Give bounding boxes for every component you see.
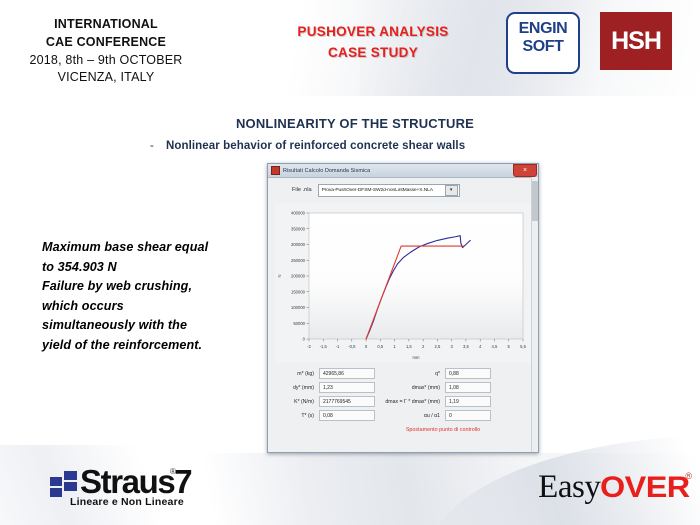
presentation-title: PUSHOVER ANALYSIS CASE STUDY	[258, 22, 488, 64]
svg-text:-1,5: -1,5	[320, 344, 328, 349]
result-field-left-0[interactable]: 42965,86	[319, 368, 375, 379]
svg-text:4,5: 4,5	[492, 344, 498, 349]
control-point-note: Spostamento punto di controllo	[274, 427, 532, 433]
results-panel: m* (kg)42965,86q*0,88dy* (mm)1,23dmax* (…	[268, 363, 538, 433]
bullet-dash-icon: -	[150, 140, 154, 152]
svg-text:350000: 350000	[291, 226, 306, 231]
enginsoft-logo-line-1: ENGIN	[508, 20, 578, 38]
result-label-left-3: T* (s)	[274, 413, 314, 419]
conference-line-1: INTERNATIONAL	[8, 16, 204, 34]
annotation-line-6: yield of the reinforcement.	[42, 336, 267, 356]
scrollbar-thumb[interactable]	[532, 181, 538, 221]
pushover-chart: -2-1,5-1-0,500,511,522,533,544,555,5mm05…	[275, 203, 531, 363]
enginsoft-logo: ENGIN SOFT	[506, 12, 580, 74]
application-icon	[271, 166, 280, 175]
slide-root: INTERNATIONAL CAE CONFERENCE 2018, 8th –…	[0, 0, 700, 525]
result-field-left-2[interactable]: 2177769545	[319, 396, 375, 407]
result-label-left-1: dy* (mm)	[274, 385, 314, 391]
svg-text:N: N	[277, 274, 282, 277]
presentation-title-line-1: PUSHOVER ANALYSIS	[258, 22, 488, 43]
result-label-right-3: αu / α1	[380, 413, 440, 419]
result-label-right-0: q*	[380, 371, 440, 377]
result-label-left-2: K* (N/m)	[274, 399, 314, 405]
svg-text:-2: -2	[307, 344, 311, 349]
window-scrollbar[interactable]	[531, 177, 538, 452]
straus7-blocks-icon	[50, 471, 80, 497]
svg-text:-1: -1	[336, 344, 340, 349]
result-label-right-2: dmax = Γ * dmax* (mm)	[380, 399, 440, 405]
result-field-right-1[interactable]: 1,08	[445, 382, 491, 393]
result-label-right-1: dmax* (mm)	[380, 385, 440, 391]
result-label-left-0: m* (kg)	[274, 371, 314, 377]
section-heading: NONLINEARITY OF THE STRUCTURE	[130, 116, 580, 131]
svg-text:150000: 150000	[291, 289, 306, 294]
svg-text:200000: 200000	[291, 274, 306, 279]
conference-line-3: 2018, 8th – 9th OCTOBER	[8, 52, 204, 70]
hsh-logo-text: HSH	[600, 12, 672, 70]
svg-text:400000: 400000	[291, 211, 306, 216]
enginsoft-logo-line-2: SOFT	[508, 38, 578, 56]
svg-text:300000: 300000	[291, 242, 306, 247]
result-field-left-1[interactable]: 1,23	[319, 382, 375, 393]
enginsoft-logo-notch-top	[564, 18, 574, 21]
annotation-line-3: Failure by web crushing,	[42, 277, 267, 297]
straus7-registered-icon: ®	[170, 467, 176, 476]
easyover-over-text: OVER	[600, 471, 690, 505]
svg-text:0,5: 0,5	[377, 344, 383, 349]
enginsoft-logo-notch-bottom	[512, 65, 522, 68]
svg-text:100000: 100000	[291, 305, 306, 310]
conference-info: INTERNATIONAL CAE CONFERENCE 2018, 8th –…	[8, 16, 204, 87]
application-window: Risultati Calcolo Domanda Sismica × File…	[267, 163, 539, 453]
section-bullet: - Nonlinear behavior of reinforced concr…	[150, 140, 580, 152]
result-field-right-0[interactable]: 0,88	[445, 368, 491, 379]
file-dropdown[interactable]: Prova-PushOver-DFSM-SW2d-nonLintMasse+X.…	[318, 184, 460, 197]
results-grid: m* (kg)42965,86q*0,88dy* (mm)1,23dmax* (…	[274, 368, 532, 421]
annotation-line-2: to 354.903 N	[42, 258, 267, 278]
pushover-chart-svg: -2-1,5-1-0,500,511,522,533,544,555,5mm05…	[275, 203, 531, 363]
svg-text:2,5: 2,5	[434, 344, 440, 349]
hsh-logo: HSH	[600, 12, 672, 70]
result-field-left-3[interactable]: 0,08	[319, 410, 375, 421]
easyover-easy-text: Easy	[538, 469, 600, 506]
svg-text:1,5: 1,5	[406, 344, 412, 349]
presentation-title-line-2: CASE STUDY	[258, 43, 488, 64]
file-dropdown-value: Prova-PushOver-DFSM-SW2d-nonLintMasse+X.…	[319, 188, 445, 193]
conference-line-2: CAE CONFERENCE	[8, 34, 204, 52]
result-field-right-3[interactable]: 0	[445, 410, 491, 421]
svg-text:250000: 250000	[291, 258, 306, 263]
svg-text:5,5: 5,5	[520, 344, 526, 349]
annotation-line-4: which occurs	[42, 297, 267, 317]
result-field-right-2[interactable]: 1,19	[445, 396, 491, 407]
file-label: File .nla	[292, 187, 312, 193]
close-icon[interactable]: ×	[513, 164, 537, 177]
easyover-logo: Easy OVER ®	[538, 469, 690, 511]
window-title-bar: Risultati Calcolo Domanda Sismica ×	[268, 164, 538, 178]
conference-line-4: VICENZA, ITALY	[8, 69, 204, 87]
window-title: Risultati Calcolo Domanda Sismica	[283, 168, 370, 174]
chevron-down-icon[interactable]: ▾	[445, 185, 458, 196]
annotation-line-1: Maximum base shear equal	[42, 238, 267, 258]
annotation-note: Maximum base shear equal to 354.903 N Fa…	[42, 238, 267, 355]
file-selector-row: File .nla Prova-PushOver-DFSM-SW2d-nonLi…	[268, 178, 538, 199]
easyover-registered-icon: ®	[685, 471, 692, 481]
enginsoft-logo-text: ENGIN SOFT	[508, 20, 578, 56]
svg-text:50000: 50000	[293, 321, 305, 326]
svg-text:-0,5: -0,5	[348, 344, 356, 349]
svg-text:mm: mm	[413, 355, 420, 360]
straus7-logo: Straus7 ® Lineare e Non Lineare	[18, 463, 238, 513]
annotation-line-5: simultaneously with the	[42, 316, 267, 336]
section-bullet-text: Nonlinear behavior of reinforced concret…	[166, 140, 465, 152]
straus7-tagline: Lineare e Non Lineare	[70, 496, 184, 508]
svg-text:3,5: 3,5	[463, 344, 469, 349]
